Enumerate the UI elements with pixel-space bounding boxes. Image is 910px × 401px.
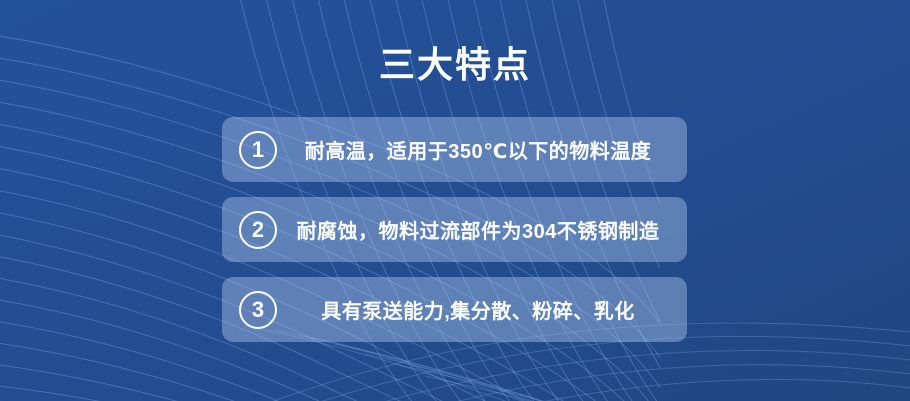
feature-text: 耐高温，适用于350℃以下的物料温度 bbox=[277, 135, 687, 164]
feature-text: 耐腐蚀，物料过流部件为304不锈钢制造 bbox=[277, 215, 687, 244]
feature-banner: 三大特点 1 耐高温，适用于350℃以下的物料温度 2 耐腐蚀，物料过流部件为3… bbox=[0, 0, 910, 401]
feature-card[interactable]: 1 耐高温，适用于350℃以下的物料温度 bbox=[222, 117, 687, 182]
feature-number-badge: 1 bbox=[239, 131, 277, 169]
page-title: 三大特点 bbox=[0, 43, 910, 87]
feature-text: 具有泵送能力,集分散、粉碎、乳化 bbox=[277, 295, 687, 324]
feature-card[interactable]: 3 具有泵送能力,集分散、粉碎、乳化 bbox=[222, 277, 687, 342]
feature-number-badge: 3 bbox=[239, 291, 277, 329]
feature-number-badge: 2 bbox=[239, 211, 277, 249]
feature-card[interactable]: 2 耐腐蚀，物料过流部件为304不锈钢制造 bbox=[222, 197, 687, 262]
